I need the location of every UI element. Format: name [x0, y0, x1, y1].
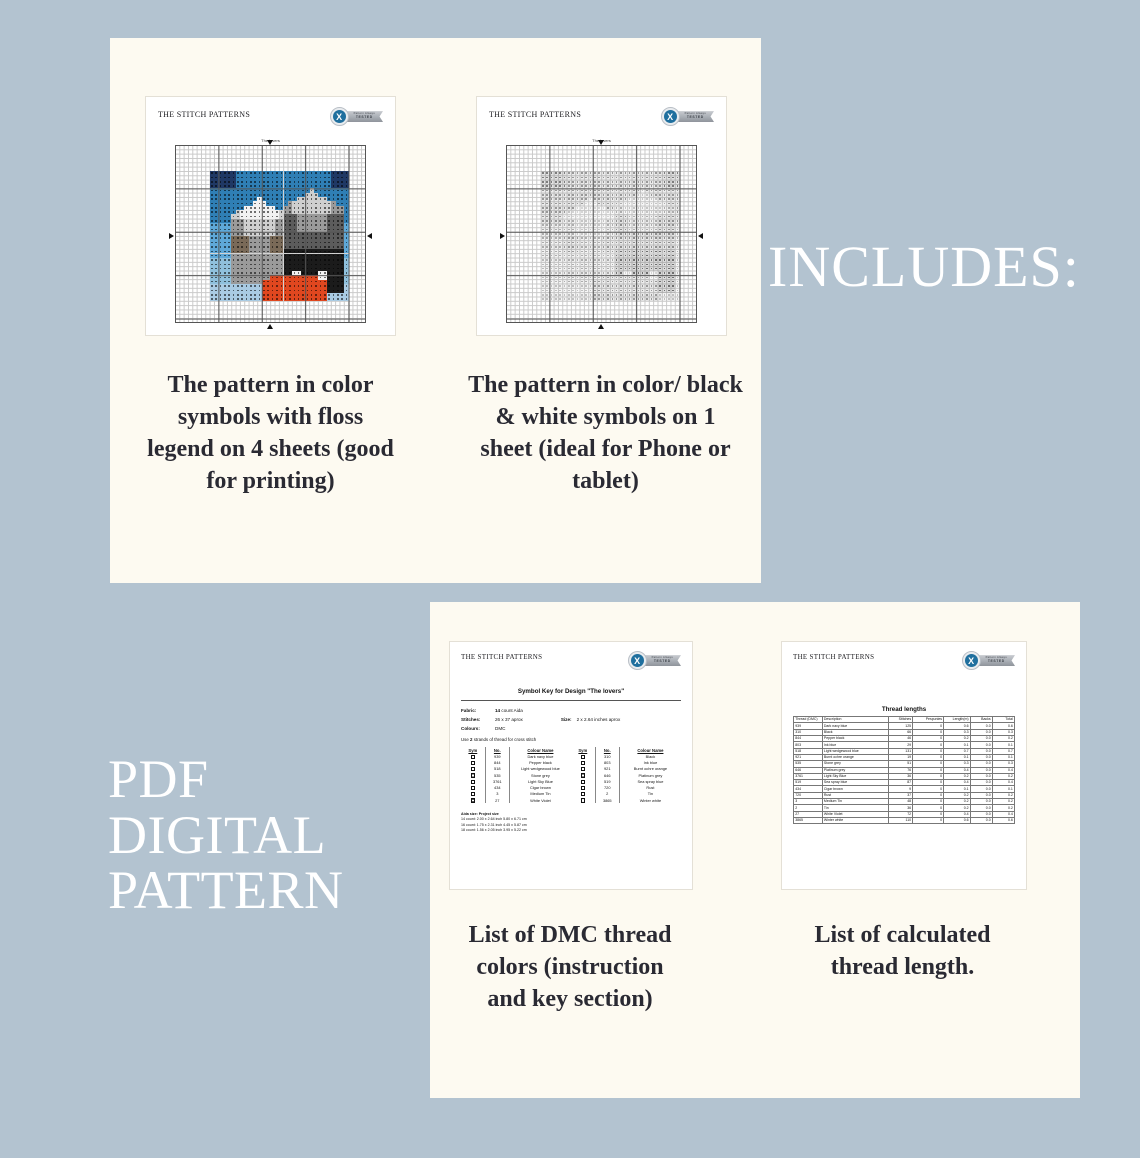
- symbol-key-body: 939Dark navy blue310Black844Pepper black…: [461, 753, 681, 803]
- stitches-row: Stitches: 26 x 37 aprox Size: 2 x 2.64 i…: [461, 717, 681, 722]
- tested-badge: X Pattern Always TESTED: [661, 107, 714, 126]
- badge-x-icon: X: [333, 110, 346, 123]
- strands-note: Use 2 strands of thread for cross stitch: [461, 737, 681, 742]
- table-cell: 27: [485, 797, 509, 803]
- color-swatch-icon: [571, 797, 595, 803]
- aida-line: 18 count: 1.56 x 2.05 inch 3.95 x 5.22 c…: [461, 828, 681, 833]
- colours-row: Colours: DMC: [461, 726, 681, 731]
- sheet-header: THE STITCH PATTERNS X Pattern Always TES…: [461, 651, 681, 670]
- table-cell: 0.6: [992, 818, 1014, 824]
- stitches-label: Stitches:: [461, 717, 495, 722]
- thread-lengths-body: 939Dark navy blue12500.60.00.6310Black66…: [794, 723, 1015, 824]
- table-cell: 0.6: [944, 818, 971, 824]
- table-cell: Winter white: [822, 818, 888, 824]
- pdf-line-3: PATTERN: [108, 863, 344, 919]
- caption-dmc-list: List of DMC thread colors (instruction a…: [455, 920, 685, 1016]
- sheet-bw-symbol-chart[interactable]: THE STITCH PATTERNS X Pattern Always TES…: [476, 96, 727, 336]
- caption-color-symbols: The pattern in color symbols with floss …: [143, 370, 398, 498]
- badge-seal-icon: X: [661, 107, 680, 126]
- color-swatch-icon: [461, 797, 485, 803]
- sheet-header: THE STITCH PATTERNS X Pattern Always TES…: [793, 651, 1015, 670]
- center-tick-top-icon: [267, 140, 273, 145]
- badge-seal-icon: X: [330, 107, 349, 126]
- grid-frame: [506, 145, 697, 323]
- sheet-header-title: THE STITCH PATTERNS: [489, 110, 581, 119]
- table-cell: 0: [913, 818, 944, 824]
- thread-lengths-table: Thread (DMC)DescriptionStitchesPespunies…: [793, 716, 1015, 824]
- size-value: 2 x 2.64 inches aprox: [577, 717, 621, 722]
- table-cell: Winter white: [619, 797, 681, 803]
- badge-x-icon: X: [965, 654, 978, 667]
- caption-thread-length: List of calculated thread length.: [780, 920, 1025, 984]
- grid-frame: [175, 145, 366, 323]
- fabric-label: Fabric:: [461, 708, 495, 713]
- stitches-value: 26 x 37 aprox: [495, 717, 523, 722]
- center-tick-left-icon: [169, 233, 174, 239]
- sheet-dmc-key[interactable]: THE STITCH PATTERNS X Pattern Always TES…: [449, 641, 693, 890]
- sheet-color-symbol-chart[interactable]: THE STITCH PATTERNS X Pattern Always TES…: [145, 96, 396, 336]
- aida-size-block: Aida size: Project size 14 count: 2.00 x…: [461, 812, 681, 833]
- caption-bw-symbols: The pattern in color/ black & white symb…: [468, 370, 743, 498]
- aida-title: Aida size: Project size: [461, 812, 499, 816]
- pdf-line-2: DIGITAL: [108, 808, 344, 864]
- sheet-header-title: THE STITCH PATTERNS: [158, 110, 250, 119]
- center-tick-bottom-icon: [267, 324, 273, 329]
- table-cell: 0.0: [970, 818, 992, 824]
- center-tick-right-icon: [698, 233, 703, 239]
- colours-label: Colours:: [461, 726, 495, 731]
- center-tick-left-icon: [500, 233, 505, 239]
- size-label: Size:: [561, 717, 572, 722]
- pdf-digital-pattern-heading: PDF DIGITAL PATTERN: [108, 752, 344, 919]
- badge-line-2: TESTED: [354, 116, 375, 120]
- fabric-row: Fabric: 14 count Aida: [461, 708, 681, 713]
- thread-lengths-header-row: Thread (DMC)DescriptionStitchesPespunies…: [794, 717, 1015, 723]
- color-chart-wrap: The lovers: [175, 145, 366, 323]
- includes-heading: INCLUDES:: [768, 238, 1080, 296]
- center-tick-right-icon: [367, 233, 372, 239]
- tested-badge: X Pattern Always TESTED: [962, 651, 1015, 670]
- badge-x-icon: X: [631, 654, 644, 667]
- sheet-header: THE STITCH PATTERNS X Pattern Always TES…: [489, 107, 714, 126]
- cross-stitch-color-grid: [175, 145, 366, 323]
- badge-seal-icon: X: [962, 651, 981, 670]
- table-row: 3865Winter white11000.60.00.6: [794, 818, 1015, 824]
- sheet-header-title: THE STITCH PATTERNS: [793, 653, 874, 661]
- center-tick-bottom-icon: [598, 324, 604, 329]
- sheet-header-title: THE STITCH PATTERNS: [461, 653, 542, 661]
- key-divider: [461, 700, 681, 701]
- sheet-header: THE STITCH PATTERNS X Pattern Always TES…: [158, 107, 383, 126]
- table-cell: 3865: [595, 797, 619, 803]
- table-cell: 110: [889, 818, 913, 824]
- sheet-thread-lengths[interactable]: THE STITCH PATTERNS X Pattern Always TES…: [781, 641, 1027, 890]
- symbol-key-table: SymNo.Colour NameSymNo.Colour Name 939Da…: [461, 747, 681, 803]
- fabric-value: 14 count Aida: [495, 708, 523, 713]
- aida-lines: 14 count: 2.00 x 2.64 inch 5.80 x 6.71 c…: [461, 817, 681, 833]
- cross-stitch-bw-grid: [506, 145, 697, 323]
- table-row: 27White Violet3865Winter white: [461, 797, 681, 803]
- pdf-line-1: PDF: [108, 752, 344, 808]
- key-title: Symbol Key for Design "The lovers": [461, 688, 681, 695]
- center-tick-top-icon: [598, 140, 604, 145]
- colours-value: DMC: [495, 726, 505, 731]
- badge-seal-icon: X: [628, 651, 647, 670]
- table-cell: 3865: [794, 818, 823, 824]
- thread-lengths-title: Thread lengths: [793, 706, 1015, 713]
- badge-line-2: TESTED: [986, 660, 1007, 664]
- tested-badge: X Pattern Always TESTED: [330, 107, 383, 126]
- badge-x-icon: X: [664, 110, 677, 123]
- badge-line-2: TESTED: [652, 660, 673, 664]
- tested-badge: X Pattern Always TESTED: [628, 651, 681, 670]
- table-cell: White Violet: [509, 797, 571, 803]
- badge-line-2: TESTED: [685, 116, 706, 120]
- bw-chart-wrap: The lovers: [506, 145, 697, 323]
